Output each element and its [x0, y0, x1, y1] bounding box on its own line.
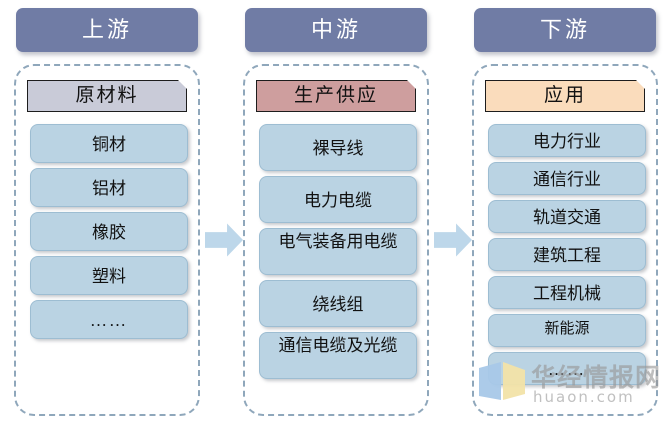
stage-banner-downstream: 下游	[474, 8, 656, 52]
dashed-container-upstream: 原材料 铜材 铝材 橡胶 塑料 ……	[14, 64, 200, 416]
list-item[interactable]: 裸导线	[259, 124, 417, 171]
list-item[interactable]: ……	[488, 352, 646, 385]
chain-column-upstream: 上游 原材料 铜材 铝材 橡胶 塑料 ……	[14, 0, 200, 431]
list-item[interactable]: 电力行业	[488, 124, 646, 157]
list-item[interactable]: 轨道交通	[488, 200, 646, 233]
section-title-upstream: 原材料	[27, 80, 187, 112]
industry-chain-diagram: 上游 原材料 铜材 铝材 橡胶 塑料 …… 中游 生产供应 裸导线 电力电缆 电…	[0, 0, 672, 431]
list-item[interactable]: 新能源	[488, 314, 646, 347]
section-title-downstream: 应用	[485, 80, 645, 112]
list-item[interactable]: 电力电缆	[259, 176, 417, 223]
chain-column-downstream: 下游 应用 电力行业 通信行业 轨道交通 建筑工程 工程机械 新能源 ……	[472, 0, 658, 431]
list-item[interactable]: 绕线组	[259, 280, 417, 327]
dashed-container-midstream: 生产供应 裸导线 电力电缆 电气装备用电缆 绕线组 通信电缆及光缆	[243, 64, 429, 416]
arrow-right-icon	[434, 222, 472, 258]
stage-banner-upstream: 上游	[16, 8, 198, 52]
arrow-right-icon	[205, 222, 243, 258]
list-item[interactable]: 电气装备用电缆	[259, 228, 417, 275]
item-list-downstream: 电力行业 通信行业 轨道交通 建筑工程 工程机械 新能源 ……	[488, 124, 646, 385]
dashed-container-downstream: 应用 电力行业 通信行业 轨道交通 建筑工程 工程机械 新能源 ……	[472, 64, 658, 416]
chain-column-midstream: 中游 生产供应 裸导线 电力电缆 电气装备用电缆 绕线组 通信电缆及光缆	[243, 0, 429, 431]
list-item[interactable]: 工程机械	[488, 276, 646, 309]
list-item[interactable]: 建筑工程	[488, 238, 646, 271]
list-item[interactable]: 铜材	[30, 124, 188, 163]
list-item[interactable]: 通信行业	[488, 162, 646, 195]
list-item[interactable]: ……	[30, 300, 188, 339]
stage-banner-midstream: 中游	[245, 8, 427, 52]
item-list-midstream: 裸导线 电力电缆 电气装备用电缆 绕线组 通信电缆及光缆	[259, 124, 417, 379]
section-title-midstream: 生产供应	[256, 80, 416, 112]
list-item[interactable]: 通信电缆及光缆	[259, 332, 417, 379]
list-item[interactable]: 塑料	[30, 256, 188, 295]
item-list-upstream: 铜材 铝材 橡胶 塑料 ……	[30, 124, 188, 339]
list-item[interactable]: 橡胶	[30, 212, 188, 251]
list-item[interactable]: 铝材	[30, 168, 188, 207]
